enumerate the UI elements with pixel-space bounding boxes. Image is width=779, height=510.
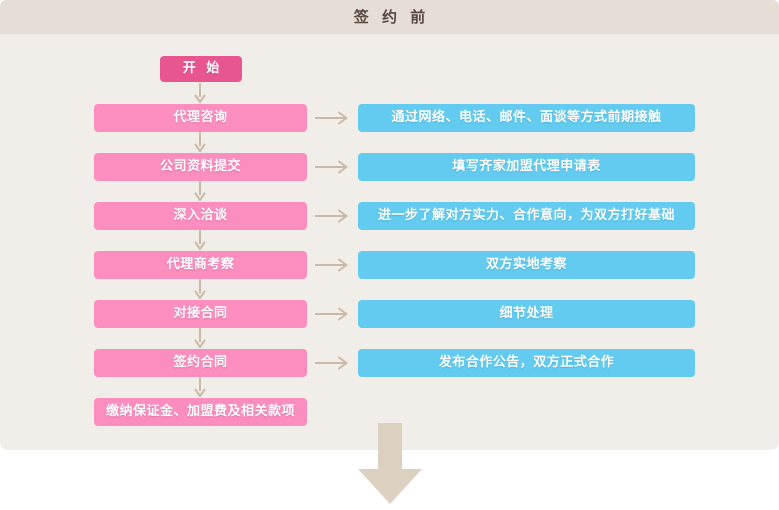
flow-row: 代理商考察 双方实地考察 (0, 251, 779, 279)
down-arrow-icon (190, 328, 210, 349)
down-arrow-icon (190, 83, 210, 104)
flow-step-box: 缴纳保证金、加盟费及相关款项 (94, 398, 307, 426)
section-down-arrow-icon (352, 423, 428, 506)
flow-row: 公司资料提交 填写齐家加盟代理申请表 (0, 153, 779, 181)
flow-detail-box: 填写齐家加盟代理申请表 (358, 153, 695, 181)
panel-header-bar: 签 约 前 (0, 0, 779, 34)
flow-step-box: 对接合同 (94, 300, 307, 328)
flow-row: 对接合同 细节处理 (0, 300, 779, 328)
flow-detail-box: 通过网络、电话、邮件、面谈等方式前期接触 (358, 104, 695, 132)
down-arrow-icon (190, 181, 210, 202)
flowchart-page: 签 约 前 开 始 代理咨询 通过网络、电话、邮件、面谈等方式前期接触 (0, 0, 779, 506)
pre-signing-panel: 签 约 前 开 始 代理咨询 通过网络、电话、邮件、面谈等方式前期接触 (0, 0, 779, 450)
down-arrow-icon (190, 230, 210, 251)
right-arrow-icon (313, 153, 353, 181)
flow-row: 代理咨询 通过网络、电话、邮件、面谈等方式前期接触 (0, 104, 779, 132)
flow-detail-box: 发布合作公告，双方正式合作 (358, 349, 695, 377)
flow-detail-box: 细节处理 (358, 300, 695, 328)
flow-detail-box: 进一步了解对方实力、合作意向，为双方打好基础 (358, 202, 695, 230)
flow-step-box: 签约合同 (94, 349, 307, 377)
flow-step-box: 代理咨询 (94, 104, 307, 132)
flow-step-box: 公司资料提交 (94, 153, 307, 181)
right-arrow-icon (313, 300, 353, 328)
down-arrow-icon (190, 279, 210, 300)
flow-step-box: 深入洽谈 (94, 202, 307, 230)
down-arrow-icon (190, 132, 210, 153)
flow-row: 缴纳保证金、加盟费及相关款项 (0, 398, 779, 426)
right-arrow-icon (313, 104, 353, 132)
flow-step-box: 代理商考察 (94, 251, 307, 279)
page-title: 签 约 前 (0, 0, 779, 34)
right-arrow-icon (313, 251, 353, 279)
flow-start-box: 开 始 (160, 56, 242, 82)
right-arrow-icon (313, 202, 353, 230)
flow-row: 签约合同 发布合作公告，双方正式合作 (0, 349, 779, 377)
down-arrow-icon (190, 377, 210, 398)
flow-row: 深入洽谈 进一步了解对方实力、合作意向，为双方打好基础 (0, 202, 779, 230)
flow-detail-box: 双方实地考察 (358, 251, 695, 279)
right-arrow-icon (313, 349, 353, 377)
